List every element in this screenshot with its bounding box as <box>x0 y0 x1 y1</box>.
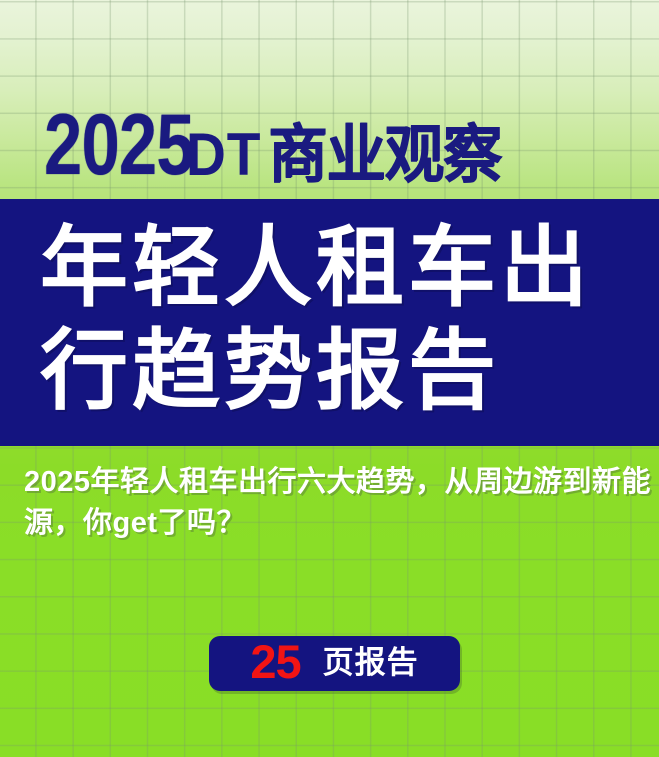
headline-line-1: 年轻人租车出 <box>40 224 592 312</box>
subtitle-text: 2025年轻人租车出行六大趋势，从周边游到新能源，你get了吗？ <box>24 462 654 544</box>
brand-latin-label: DT <box>186 125 261 185</box>
page-count-label: 页报告 <box>323 647 419 678</box>
headline-band: 年轻人租车出 行趋势报告 <box>0 199 659 446</box>
kicker-line: 2025 DT 商业观察 <box>0 96 659 188</box>
page-count-number: 25 <box>250 638 300 685</box>
headline-line-2: 行趋势报告 <box>40 327 500 415</box>
page-count-badge[interactable]: 25 页报告 <box>209 636 460 691</box>
brand-chinese-label: 商业观察 <box>268 124 501 187</box>
kicker-year: 2025 <box>44 102 194 188</box>
poster-cover: 2025 DT 商业观察 年轻人租车出 行趋势报告 2025年轻人租车出行六大趋… <box>0 0 659 757</box>
